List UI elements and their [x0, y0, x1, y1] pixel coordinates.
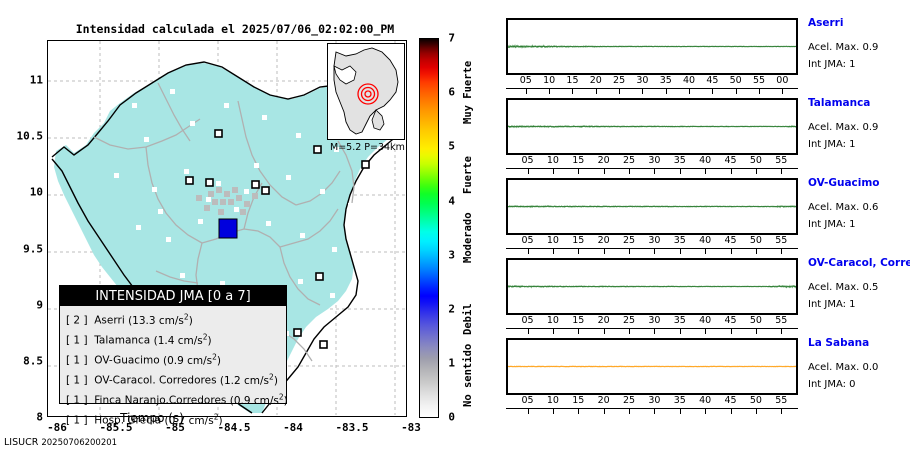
legend-row: [ 2 ] Aserri (13.3 cm/s2) [66, 309, 286, 329]
axis-tick [553, 168, 554, 174]
station-peak-acceleration: Acel. Max. 0.6 [808, 202, 878, 213]
axis-tick [528, 328, 529, 334]
axis-tick [553, 328, 554, 334]
axis-tick [572, 88, 573, 94]
axis-tick-label: 25 [623, 155, 635, 166]
axis-tick [528, 248, 529, 254]
axis-tick [736, 88, 737, 94]
axis-tick-label: 15 [566, 75, 578, 86]
waveform-plot[interactable] [506, 338, 798, 395]
axis-tick [553, 248, 554, 254]
waveform-plot[interactable] [506, 258, 798, 315]
station-peak-acceleration: Acel. Max. 0.9 [808, 42, 878, 53]
axis-tick-label: 35 [674, 395, 686, 406]
axis-tick [781, 168, 782, 174]
map-y-tick: 10 [30, 186, 43, 199]
axis-tick-label: 25 [623, 315, 635, 326]
axis-tick [629, 408, 630, 414]
footer-agency: LISUCR [4, 437, 38, 448]
waveform-time-axis: 0510152025303540455055 [506, 315, 798, 335]
colorbar-category: Debil [462, 303, 474, 335]
regional-inset-map[interactable] [327, 43, 405, 140]
axis-tick-label: 10 [543, 75, 555, 86]
axis-tick [578, 408, 579, 414]
legend-row: [ 1 ] Talamanca (1.4 cm/s2) [66, 329, 286, 349]
legend-value: (0.9 cm/s2) [230, 395, 288, 407]
axis-tick-label: 55 [775, 395, 787, 406]
axis-line [506, 168, 798, 169]
axis-tick [619, 88, 620, 94]
legend-station: OV-Caracol. Corredores [94, 375, 216, 387]
inset-magnitude-caption: M=5.2 P=34km [330, 142, 405, 153]
legend-level: [ 1 ] [66, 355, 88, 367]
station-peak-acceleration: Acel. Max. 0.9 [808, 122, 878, 133]
axis-tick [629, 328, 630, 334]
axis-tick-label: 30 [648, 395, 660, 406]
time-axis-label: Tiempo (s) [6, 411, 298, 425]
waveform-time-axis: 0510152025303540455055 [506, 395, 798, 415]
station-name: Aserri [808, 17, 843, 29]
axis-tick-label: 55 [753, 75, 765, 86]
axis-tick [596, 88, 597, 94]
axis-tick [759, 88, 760, 94]
axis-tick [654, 328, 655, 334]
station-jma-intensity: Int JMA: 1 [808, 59, 856, 70]
axis-tick-label: 50 [750, 315, 762, 326]
axis-tick [629, 248, 630, 254]
axis-tick [528, 168, 529, 174]
legend-level: [ 2 ] [66, 315, 88, 327]
axis-tick-label: 50 [750, 235, 762, 246]
axis-tick [756, 168, 757, 174]
axis-tick-label: 00 [776, 75, 788, 86]
axis-tick [666, 88, 667, 94]
colorbar-category: Fuerte [462, 156, 474, 194]
axis-tick [549, 88, 550, 94]
axis-tick [705, 328, 706, 334]
axis-tick [604, 408, 605, 414]
colorbar-tick: 7 [448, 32, 455, 45]
axis-tick [604, 328, 605, 334]
station-name: La Sabana [808, 337, 869, 349]
seismogram-panels: 051015202530354045505500AserriAcel. Max.… [500, 18, 905, 438]
axis-tick-label: 55 [775, 235, 787, 246]
colorbar-category-labels: Muy FuerteFuerteModeradoDebilNo sentido [462, 38, 488, 418]
colorbar-tick: 2 [448, 303, 455, 316]
legend-station: OV-Guacimo [94, 355, 159, 367]
station-jma-intensity: Int JMA: 1 [808, 219, 856, 230]
axis-tick-label: 45 [725, 395, 737, 406]
axis-tick [731, 168, 732, 174]
waveform-plot[interactable] [506, 18, 798, 75]
axis-tick [578, 168, 579, 174]
waveform-time-axis: 0510152025303540455055 [506, 155, 798, 175]
axis-tick-label: 45 [725, 155, 737, 166]
station-name: OV-Caracol, Corredore [808, 257, 910, 269]
station-name: Talamanca [808, 97, 870, 109]
waveform-trace [508, 20, 796, 73]
waveform-plot[interactable] [506, 98, 798, 155]
axis-tick-label: 05 [522, 315, 534, 326]
axis-line [506, 248, 798, 249]
axis-tick-label: 35 [674, 315, 686, 326]
axis-tick-label: 45 [725, 235, 737, 246]
axis-tick [578, 248, 579, 254]
axis-tick [680, 408, 681, 414]
legend-value: (1.2 cm/s2) [220, 375, 278, 387]
axis-tick-label: 25 [623, 395, 635, 406]
axis-tick-label: 40 [699, 315, 711, 326]
axis-tick-label: 45 [725, 315, 737, 326]
axis-tick [689, 88, 690, 94]
station-jma-intensity: Int JMA: 0 [808, 379, 856, 390]
axis-tick-label: 10 [547, 155, 559, 166]
axis-tick [781, 408, 782, 414]
axis-tick-label: 40 [699, 155, 711, 166]
axis-tick-label: 50 [750, 155, 762, 166]
axis-line [506, 408, 798, 409]
axis-tick-label: 20 [598, 395, 610, 406]
station-peak-acceleration: Acel. Max. 0.5 [808, 282, 878, 293]
axis-tick [604, 168, 605, 174]
axis-tick-label: 55 [775, 155, 787, 166]
axis-tick [781, 248, 782, 254]
axis-tick [528, 408, 529, 414]
axis-tick-label: 30 [648, 155, 660, 166]
axis-tick [782, 88, 783, 94]
axis-tick [654, 248, 655, 254]
axis-tick [756, 408, 757, 414]
station-peak-acceleration: Acel. Max. 0.0 [808, 362, 878, 373]
station-jma-intensity: Int JMA: 1 [808, 139, 856, 150]
colorbar-tick: 6 [448, 86, 455, 99]
inset-graphic [328, 44, 404, 139]
map-y-axis: 1110.5109.598.58 [0, 40, 43, 417]
intensity-legend: INTENSIDAD JMA [0 a 7] [ 2 ] Aserri (13.… [59, 285, 287, 404]
colorbar-tick-labels: 76543210 [441, 38, 455, 418]
axis-tick [712, 88, 713, 94]
map-y-tick: 11 [30, 74, 43, 87]
legend-row: [ 1 ] Finca Naranjo.Corredores (0.9 cm/s… [66, 389, 286, 409]
station-name: OV-Guacimo [808, 177, 880, 189]
axis-tick [731, 248, 732, 254]
axis-tick-label: 05 [522, 395, 534, 406]
axis-tick-label: 30 [648, 235, 660, 246]
legend-station: Aserri [94, 315, 124, 327]
legend-level: [ 1 ] [66, 395, 88, 407]
axis-tick-label: 50 [730, 75, 742, 86]
axis-tick-label: 55 [775, 315, 787, 326]
legend-level: [ 1 ] [66, 375, 88, 387]
axis-line [506, 328, 798, 329]
colorbar-tick: 0 [448, 411, 455, 424]
epicenter-intensity-marker[interactable] [219, 219, 237, 238]
axis-tick [680, 248, 681, 254]
axis-tick-label: 35 [674, 235, 686, 246]
map-x-tick: -83.5 [335, 421, 368, 434]
footer-code: 20250706200201 [41, 438, 117, 448]
colorbar-tick: 4 [448, 194, 455, 207]
axis-tick [642, 88, 643, 94]
axis-tick-label: 05 [520, 75, 532, 86]
colorbar-tick: 3 [448, 248, 455, 261]
waveform-trace [508, 340, 796, 393]
waveform-trace [508, 180, 796, 233]
legend-value: (0.9 cm/s2) [163, 355, 221, 367]
axis-tick [756, 248, 757, 254]
axis-tick-label: 15 [572, 395, 584, 406]
legend-value: (13.3 cm/s2) [128, 315, 193, 327]
axis-tick-label: 40 [683, 75, 695, 86]
station-jma-intensity: Int JMA: 1 [808, 299, 856, 310]
axis-tick-label: 05 [522, 155, 534, 166]
axis-tick [680, 328, 681, 334]
map-y-tick: 9 [36, 298, 43, 311]
axis-tick-label: 35 [660, 75, 672, 86]
axis-tick-label: 30 [648, 315, 660, 326]
axis-tick [526, 88, 527, 94]
colorbar-tick: 5 [448, 140, 455, 153]
legend-title: INTENSIDAD JMA [0 a 7] [60, 286, 286, 306]
map-x-tick: -83 [401, 421, 421, 434]
axis-tick-label: 10 [547, 235, 559, 246]
axis-tick-label: 10 [547, 395, 559, 406]
axis-tick [629, 168, 630, 174]
colorbar-category: Moderado [462, 212, 474, 263]
colorbar-tick: 1 [448, 357, 455, 370]
intensity-colorbar [419, 38, 439, 418]
axis-tick-label: 15 [572, 315, 584, 326]
axis-tick-label: 40 [699, 395, 711, 406]
axis-tick [680, 168, 681, 174]
axis-tick [654, 168, 655, 174]
map-y-tick: 9.5 [23, 242, 43, 255]
axis-tick-label: 20 [590, 75, 602, 86]
legend-value: (1.4 cm/s2) [154, 335, 212, 347]
axis-tick [705, 168, 706, 174]
axis-tick [731, 328, 732, 334]
axis-tick-label: 05 [522, 235, 534, 246]
map-y-tick: 8.5 [23, 355, 43, 368]
waveform-time-axis: 0510152025303540455055 [506, 235, 798, 255]
axis-tick-label: 20 [598, 235, 610, 246]
axis-tick-label: 35 [674, 155, 686, 166]
colorbar-gradient [419, 38, 439, 418]
axis-tick-label: 25 [613, 75, 625, 86]
map-y-tick: 10.5 [17, 130, 44, 143]
axis-tick-label: 10 [547, 315, 559, 326]
axis-tick-label: 45 [706, 75, 718, 86]
waveform-plot[interactable] [506, 178, 798, 235]
axis-tick [781, 328, 782, 334]
colorbar-category: No sentido [462, 344, 474, 407]
axis-tick [705, 408, 706, 414]
axis-tick [604, 248, 605, 254]
axis-tick [731, 408, 732, 414]
legend-station: Talamanca [94, 335, 150, 347]
axis-tick-label: 40 [699, 235, 711, 246]
axis-tick-label: 15 [572, 155, 584, 166]
axis-tick [705, 248, 706, 254]
legend-level: [ 1 ] [66, 335, 88, 347]
waveform-time-axis: 051015202530354045505500 [506, 75, 798, 95]
legend-station: Finca Naranjo.Corredores [94, 395, 226, 407]
legend-row: [ 1 ] OV-Guacimo (0.9 cm/s2) [66, 349, 286, 369]
axis-tick-label: 20 [598, 155, 610, 166]
axis-tick-label: 50 [750, 395, 762, 406]
axis-tick [578, 328, 579, 334]
axis-tick-label: 30 [636, 75, 648, 86]
axis-tick [553, 408, 554, 414]
colorbar-category: Muy Fuerte [462, 61, 474, 124]
page-title: Intensidad calculada el 2025/07/06_02:02… [60, 22, 410, 36]
axis-tick-label: 20 [598, 315, 610, 326]
footer: LISUCR 20250706200201 [4, 437, 117, 448]
axis-tick-label: 25 [623, 235, 635, 246]
waveform-trace [508, 260, 796, 313]
waveform-trace [508, 100, 796, 153]
axis-tick [654, 408, 655, 414]
axis-tick [756, 328, 757, 334]
legend-row: [ 1 ] OV-Caracol. Corredores (1.2 cm/s2) [66, 369, 286, 389]
axis-tick-label: 15 [572, 235, 584, 246]
